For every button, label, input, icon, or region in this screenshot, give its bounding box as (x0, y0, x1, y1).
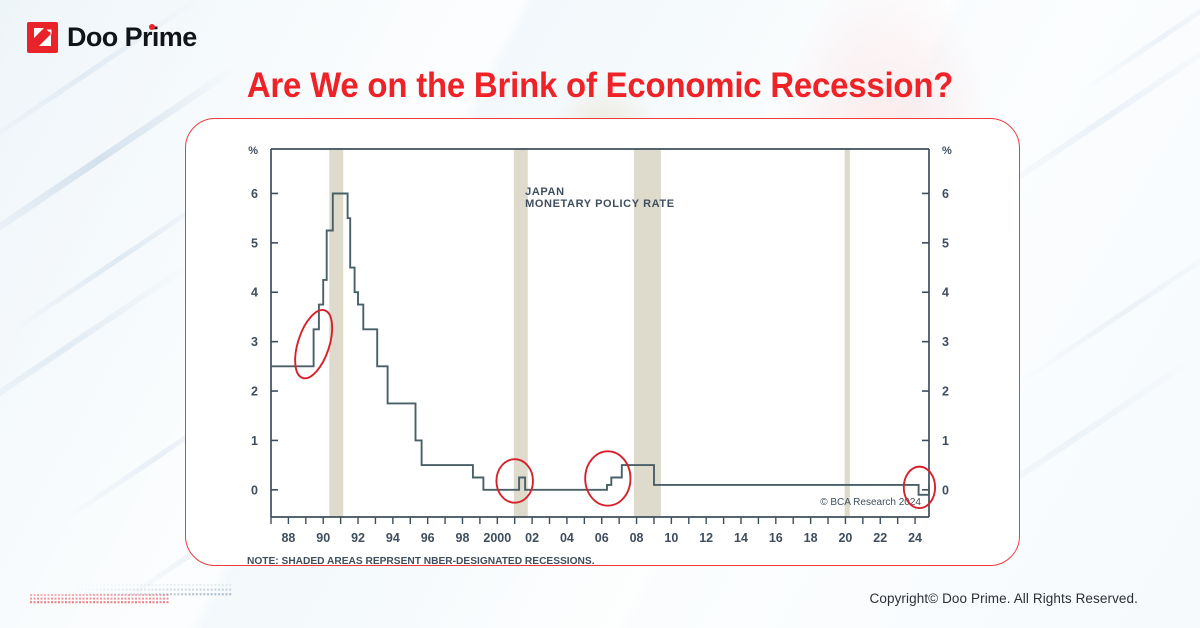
x-tick-label-1998: 98 (456, 531, 470, 545)
y-tick-label-right-3: 3 (942, 335, 949, 349)
x-tick-label-1994: 94 (386, 531, 400, 545)
y-axis-unit-left: % (248, 145, 258, 157)
x-tick-label-2014: 14 (734, 531, 748, 545)
x-tick-label-2024: 24 (908, 531, 922, 545)
x-tick-label-1992: 92 (351, 531, 365, 545)
annotation-3 (585, 451, 630, 505)
policy-rate-chart: 00112233445566%%889092949698200002040608… (186, 119, 1020, 566)
series-line-0 (271, 194, 929, 495)
page-title: Are We on the Brink of Economic Recessio… (36, 66, 1164, 106)
y-tick-label-right-6: 6 (942, 187, 949, 201)
x-tick-label-1990: 90 (316, 531, 330, 545)
poster-root: { "brand": { "name": "Doo Prime", "logo_… (0, 0, 1200, 628)
y-tick-label-left-2: 2 (251, 385, 258, 399)
y-tick-label-right-0: 0 (942, 483, 949, 497)
brand-name: Doo Prime (67, 22, 197, 53)
footer-copyright: Copyright© Doo Prime. All Rights Reserve… (870, 591, 1139, 606)
y-tick-label-left-1: 1 (251, 434, 258, 448)
y-tick-label-left-0: 0 (251, 483, 258, 497)
x-tick-label-1996: 96 (421, 531, 435, 545)
y-tick-label-left-3: 3 (251, 335, 258, 349)
y-tick-label-left-4: 4 (251, 286, 258, 300)
brand-name-text: Doo Prime (67, 22, 197, 52)
x-tick-label-2002: 02 (525, 531, 539, 545)
brand-logo[interactable]: Doo Prime (27, 22, 197, 53)
x-tick-label-2006: 06 (595, 531, 609, 545)
brand-i-dot-icon (149, 24, 155, 30)
y-tick-label-right-1: 1 (942, 434, 949, 448)
y-tick-label-right-5: 5 (942, 236, 949, 250)
x-tick-label-2000: 2000 (483, 531, 511, 545)
x-tick-label-2020: 20 (838, 531, 852, 545)
y-tick-label-left-6: 6 (251, 187, 258, 201)
chart-note: NOTE: SHADED AREAS REPRSENT NBER-DESIGNA… (247, 556, 595, 566)
x-tick-label-2004: 04 (560, 531, 574, 545)
chart-series-title: JAPAN (525, 186, 564, 198)
x-tick-label-2016: 16 (769, 531, 783, 545)
chart-area: 00112233445566%%889092949698200002040608… (186, 119, 1020, 566)
x-tick-label-2008: 08 (630, 531, 644, 545)
doo-prime-mark-icon (27, 22, 58, 53)
recession-band-4 (845, 149, 850, 517)
decorative-dot-pattern (28, 582, 233, 606)
x-tick-label-2022: 22 (873, 531, 887, 545)
y-axis-unit-right: % (942, 145, 952, 157)
x-tick-label-1988: 88 (281, 531, 295, 545)
chart-series-subtitle: MONETARY POLICY RATE (525, 198, 675, 210)
y-tick-label-right-4: 4 (942, 286, 949, 300)
x-tick-label-2010: 10 (664, 531, 678, 545)
x-tick-label-2012: 12 (699, 531, 713, 545)
y-tick-label-left-5: 5 (251, 236, 258, 250)
chart-card: 00112233445566%%889092949698200002040608… (185, 118, 1020, 566)
y-tick-label-right-2: 2 (942, 385, 949, 399)
x-tick-label-2018: 18 (804, 531, 818, 545)
